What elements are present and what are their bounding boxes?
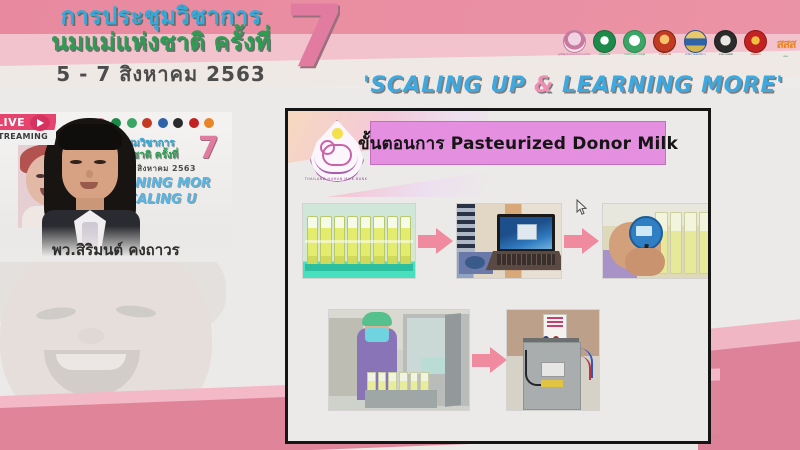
photo-milk-bottles-rack <box>302 203 416 279</box>
logo-mark-icon: สสส <box>775 34 796 55</box>
live-badge-label: LIVE <box>0 116 25 129</box>
photo-nurse-loading-bottles <box>328 309 470 411</box>
p2-screen-window <box>517 224 537 240</box>
logo-red-seal: แพทยสภา <box>744 30 768 62</box>
poster-edition-number: 7 <box>198 134 219 164</box>
sponsor-logo-strip: มูลนิธิศูนย์นมแม่แห่งประเทศไทย กรมอนามัย… <box>562 28 798 64</box>
logo-caption: สำนักราชเลขาธิการ <box>685 54 705 57</box>
logo-royal-garuda: ราชวิทยาลัย <box>653 30 677 62</box>
presentation-slide: THAILAND HUMAN MILK BANK ขั้นตอนการ Past… <box>285 108 711 444</box>
conference-title-line1: การประชุมวิชาการ <box>26 4 296 29</box>
conference-slogan: 'SCALING UP & LEARNING MORE' <box>363 73 783 98</box>
speaker-nose <box>86 170 93 178</box>
speaker-fringe <box>58 124 122 150</box>
logo-mark-icon <box>744 30 767 53</box>
poster-logo-7-icon <box>189 118 199 128</box>
process-flow-row-top <box>302 203 694 279</box>
slogan-ampersand: & <box>534 73 554 98</box>
watermark-nose <box>78 328 104 344</box>
logo-caption: สสส. <box>783 56 788 59</box>
p2-keyboard <box>497 254 555 265</box>
logo-mark-icon <box>684 30 707 53</box>
p1-shelf <box>305 264 413 271</box>
milk-logo-ring-text: THAILAND HUMAN MILK BANK <box>302 168 370 190</box>
conference-date: 5 - 7 สิงหาคม 2563 <box>26 58 296 90</box>
p5-sign-line <box>547 325 563 327</box>
p4-door <box>445 313 461 407</box>
p2-mouse <box>465 256 485 269</box>
speaker-eye-left <box>70 160 82 164</box>
conference-title-block: การประชุมวิชาการ นมแม่แห่งชาติ ครั้งที่ … <box>26 4 296 90</box>
flow-arrow-3 <box>470 344 506 376</box>
photo-pasteurizer-unit <box>506 309 600 411</box>
play-icon <box>30 115 50 131</box>
logo-thai-breastfeeding-foundation: มูลนิธิศูนย์นมแม่แห่งประเทศไทย <box>562 30 586 62</box>
logo-caption: มูลนิธิศูนย์นมแม่แห่งประเทศไทย <box>558 54 591 57</box>
p5-label-sticker <box>541 380 563 387</box>
streaming-badge-label: STREAMING <box>0 132 48 141</box>
arrow-head <box>582 228 599 254</box>
slogan-prefix: 'SCALING UP <box>363 73 534 98</box>
poster-logo-4-icon <box>142 118 152 128</box>
p3-bottle <box>699 212 712 274</box>
milk-drop-highlight <box>332 128 343 139</box>
logo-mark-icon <box>714 30 737 53</box>
logo-ministry-public-health-green: กรมอนามัย <box>592 30 616 62</box>
live-streaming-badge: LIVE STREAMING <box>0 114 56 148</box>
conference-title-line2: นมแม่แห่งชาติ ครั้งที่ <box>26 29 296 56</box>
watermark-teeth <box>56 354 126 370</box>
screenshot-stage: การประชุมวิชาการ นมแม่แห่งชาติ ครั้งที่ … <box>0 0 800 450</box>
slogan-suffix: LEARNING MORE' <box>554 73 784 98</box>
p3-second-hand <box>625 248 665 276</box>
logo-royal-emblem-blue: สำนักราชเลขาธิการ <box>683 30 707 62</box>
p3-bottle <box>684 212 697 274</box>
logo-caption: ราชวิทยาลัย <box>659 54 671 57</box>
logo-mark-icon <box>563 30 586 53</box>
flow-arrow-1 <box>416 225 456 257</box>
p5-sign-line <box>547 317 563 319</box>
p4-nurse-mask <box>365 328 389 342</box>
logo-caption: กรมอนามัย <box>599 54 610 57</box>
p5-sign-line <box>547 321 563 323</box>
mouse-pointer <box>576 199 588 216</box>
photo-laptop-data-logger <box>456 203 562 279</box>
p2-shelving <box>457 204 475 252</box>
poster-logo-6-icon <box>173 118 183 128</box>
p4-tray <box>365 390 437 408</box>
flow-arrow-2 <box>562 225 602 257</box>
arrow-head <box>436 228 453 254</box>
arrow-head <box>490 347 507 373</box>
p5-control-panel <box>541 362 565 377</box>
photo-hand-thermometer <box>602 203 711 279</box>
logo-caption: แพทยสภา <box>751 54 761 57</box>
logo-black-seal: กรมการแพทย์ <box>713 30 737 62</box>
slide-title-text: ขั้นตอนการ Pasteurized Donor Milk <box>358 130 678 157</box>
speaker-eye-right <box>94 160 106 164</box>
logo-caption: กรมการแพทย์ <box>718 54 732 57</box>
slide-title-banner: ขั้นตอนการ Pasteurized Donor Milk <box>370 121 666 165</box>
logo-thaihealth-sss: สสส สสส. <box>774 30 798 62</box>
p4-nurse-cap <box>362 312 392 326</box>
logo-caption: กระทรวงสาธารณสุข <box>624 54 645 57</box>
p3-thermometer-display <box>636 226 652 236</box>
logo-department-health: กระทรวงสาธารณสุข <box>623 30 647 62</box>
speaker-name-label: พว.สิริมนต์ คงถาวร <box>52 238 180 262</box>
poster-logo-5-icon <box>158 118 168 128</box>
p3-bottle <box>670 212 683 274</box>
logo-mark-icon <box>593 30 616 53</box>
poster-logo-8-icon <box>204 118 214 128</box>
logo-mark-icon <box>653 30 676 53</box>
logo-mark-icon <box>623 30 646 53</box>
process-flow-row-bottom <box>328 309 688 411</box>
edition-number: 7 <box>285 0 345 80</box>
p1-shelf-line <box>305 240 413 243</box>
